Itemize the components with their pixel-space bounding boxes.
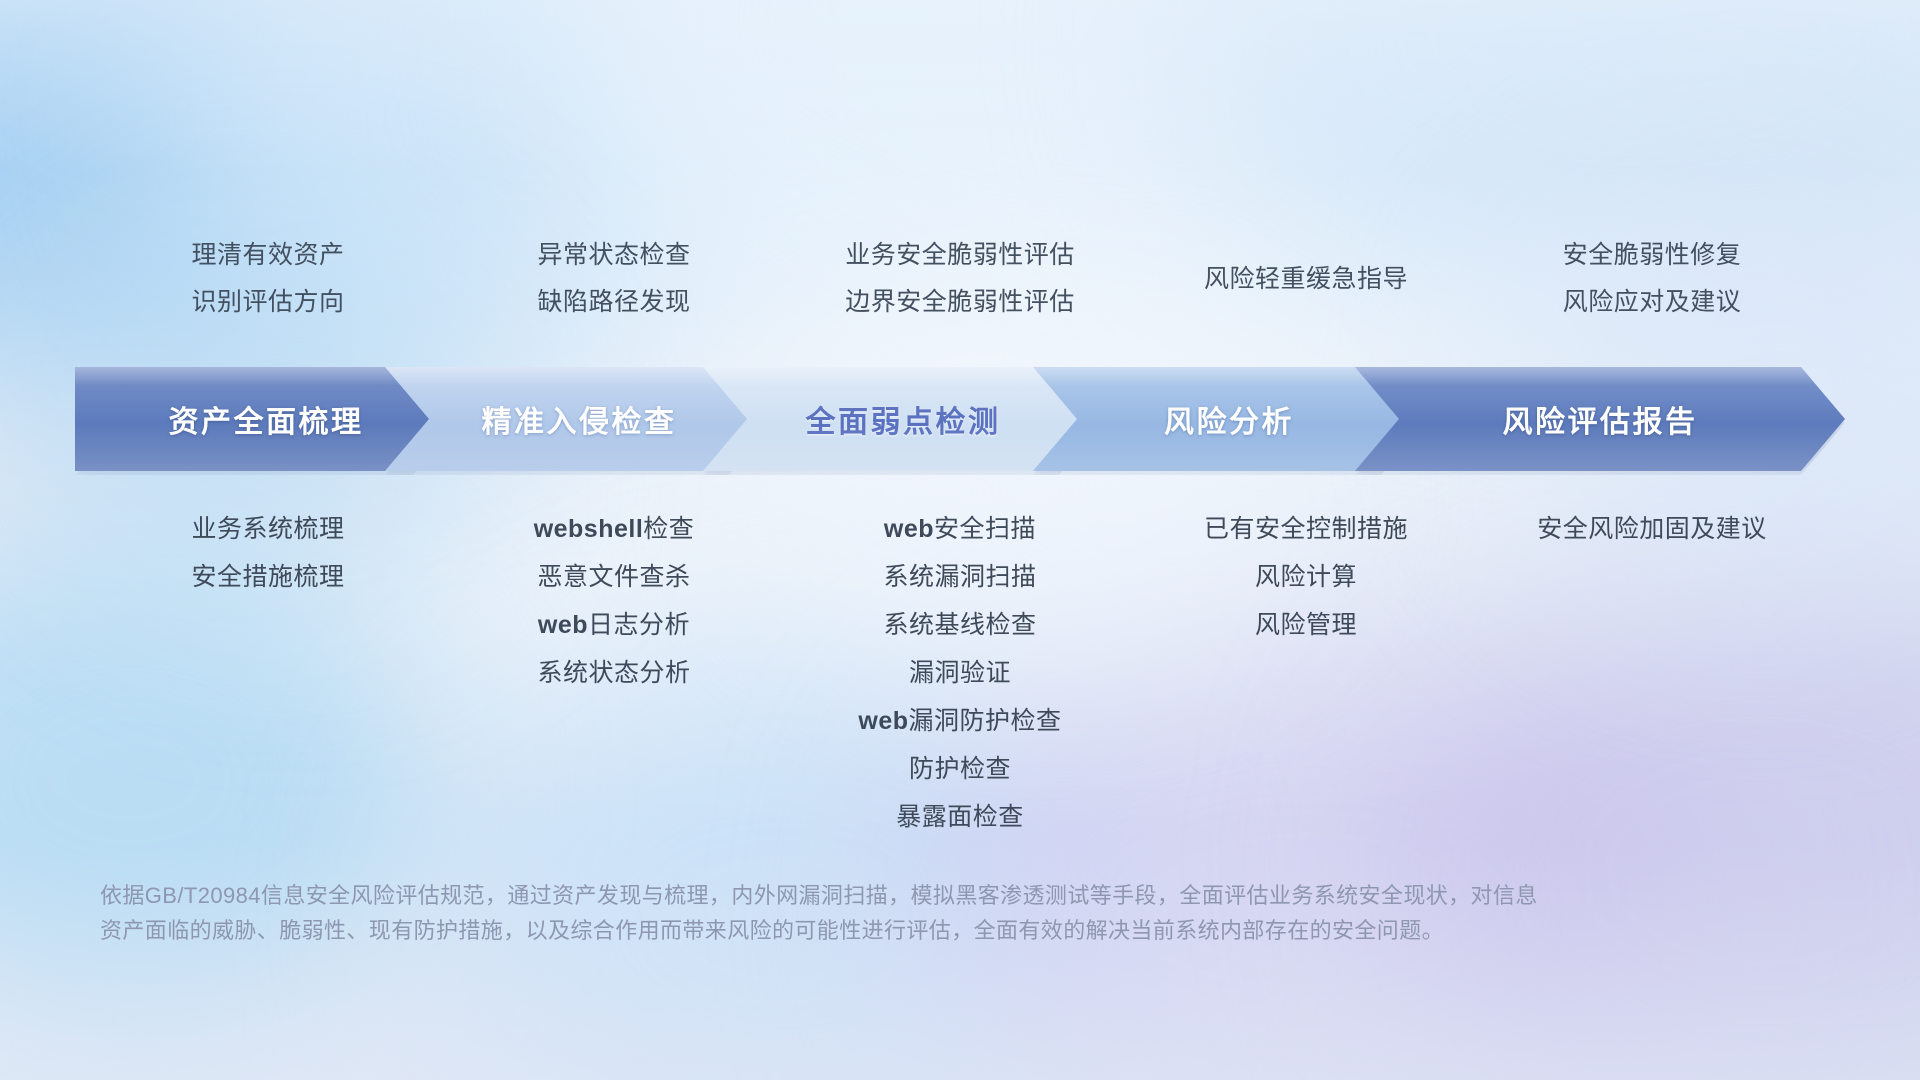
description-line: 资产面临的威胁、脆弱性、现有防护措施，以及综合作用而带来风险的可能性进行评估，全… [100, 913, 1660, 948]
activity-text: 暴露面检查 [787, 793, 1133, 841]
stage-outcomes-column-3: 业务安全脆弱性评估 边界安全脆弱性评估 [787, 232, 1133, 326]
stage-chevron-4[interactable]: 风险分析 [1033, 367, 1425, 471]
activity-text-cjk: 系统漏洞扫描 [883, 563, 1036, 591]
activity-text-cjk: 安全措施梳理 [191, 563, 344, 591]
stage-activities-column-2: webshell检查恶意文件查杀web日志分析系统状态分析 [441, 505, 787, 841]
outcome-text: 理清有效资产 [95, 232, 441, 279]
stage-chevron-3[interactable]: 全面弱点检测 [703, 367, 1103, 471]
outcome-text: 业务安全脆弱性评估 [787, 232, 1133, 279]
activity-text-cjk: 业务系统梳理 [191, 515, 344, 543]
description-paragraph: 依据GB/T20984信息安全风险评估规范，通过资产发现与梳理，内外网漏洞扫描，… [100, 878, 1660, 948]
activity-text-cjk: 系统状态分析 [537, 659, 690, 687]
stage-activities-column-3: web安全扫描系统漏洞扫描系统基线检查漏洞验证web漏洞防护检查防护检查暴露面检… [787, 505, 1133, 841]
activity-text: 风险计算 [1133, 553, 1479, 601]
stage-label: 风险分析 [1164, 397, 1294, 441]
stage-label: 风险评估报告 [1503, 397, 1698, 441]
activity-text-cjk: 风险管理 [1255, 611, 1357, 639]
outcome-text: 安全脆弱性修复 [1479, 232, 1825, 279]
activity-text-latin: web [884, 515, 934, 543]
activity-text: web安全扫描 [787, 505, 1133, 553]
activity-text-latin: webshell [534, 515, 644, 543]
stage-label: 全面弱点检测 [806, 397, 1001, 441]
stage-label: 精准入侵检查 [482, 397, 677, 441]
stage-chevron-2[interactable]: 精准入侵检查 [385, 367, 773, 471]
process-diagram: 理清有效资产 识别评估方向 异常状态检查 缺陷路径发现 业务安全脆弱性评估 边界… [0, 0, 1920, 1080]
activity-text-cjk: 检查 [643, 515, 694, 543]
stage-outcomes-column-4: 风险轻重缓急指导 [1133, 232, 1479, 326]
description-line: 依据GB/T20984信息安全风险评估规范，通过资产发现与梳理，内外网漏洞扫描，… [100, 878, 1660, 913]
stage-activities-column-1: 业务系统梳理安全措施梳理 [95, 505, 441, 841]
stage-chevron-5[interactable]: 风险评估报告 [1355, 367, 1845, 471]
activity-text: 安全风险加固及建议 [1479, 505, 1825, 553]
activity-text-cjk: 安全风险加固及建议 [1537, 515, 1767, 543]
activity-text-cjk: 已有安全控制措施 [1204, 515, 1408, 543]
stage-activities-column-5: 安全风险加固及建议 [1479, 505, 1825, 841]
stage-activities-column-4: 已有安全控制措施风险计算风险管理 [1133, 505, 1479, 841]
stage-chevron-band: 资产全面梳理 精准入侵检查 全面弱点检测 风险分析 风险评估报告 [75, 367, 1845, 471]
activity-text: 安全措施梳理 [95, 553, 441, 601]
stage-label: 资产全面梳理 [169, 397, 364, 441]
activity-text: 业务系统梳理 [95, 505, 441, 553]
activity-text: 恶意文件查杀 [441, 553, 787, 601]
outcome-text: 风险轻重缓急指导 [1133, 256, 1479, 303]
outcome-text: 异常状态检查 [441, 232, 787, 279]
activity-text-cjk: 安全扫描 [934, 515, 1036, 543]
outcome-text: 风险应对及建议 [1479, 279, 1825, 326]
activity-text: 系统状态分析 [441, 649, 787, 697]
activity-text-latin: web [538, 611, 588, 639]
activity-text-latin: web [858, 707, 908, 735]
activity-text: 系统漏洞扫描 [787, 553, 1133, 601]
activity-text: web日志分析 [441, 601, 787, 649]
stage-outcomes-column-2: 异常状态检查 缺陷路径发现 [441, 232, 787, 326]
activity-text-cjk: 系统基线检查 [883, 611, 1036, 639]
stage-outcomes-column-1: 理清有效资产 识别评估方向 [95, 232, 441, 326]
outcome-text: 边界安全脆弱性评估 [787, 279, 1133, 326]
activity-text: 系统基线检查 [787, 601, 1133, 649]
activity-text-cjk: 漏洞防护检查 [909, 707, 1062, 735]
activity-text: 已有安全控制措施 [1133, 505, 1479, 553]
activity-text-cjk: 风险计算 [1255, 563, 1357, 591]
stage-activities-row: 业务系统梳理安全措施梳理 webshell检查恶意文件查杀web日志分析系统状态… [0, 505, 1920, 841]
activity-text-cjk: 日志分析 [588, 611, 690, 639]
activity-text: webshell检查 [441, 505, 787, 553]
outcome-text: 缺陷路径发现 [441, 279, 787, 326]
outcome-text: 识别评估方向 [95, 279, 441, 326]
activity-text-cjk: 恶意文件查杀 [537, 563, 690, 591]
stage-outcomes-column-5: 安全脆弱性修复 风险应对及建议 [1479, 232, 1825, 326]
activity-text-cjk: 暴露面检查 [896, 803, 1024, 831]
activity-text-cjk: 防护检查 [909, 755, 1011, 783]
activity-text: 漏洞验证 [787, 649, 1133, 697]
activity-text: 风险管理 [1133, 601, 1479, 649]
activity-text: web漏洞防护检查 [787, 697, 1133, 745]
activity-text: 防护检查 [787, 745, 1133, 793]
stage-outcomes-row: 理清有效资产 识别评估方向 异常状态检查 缺陷路径发现 业务安全脆弱性评估 边界… [0, 232, 1920, 342]
activity-text-cjk: 漏洞验证 [909, 659, 1011, 687]
